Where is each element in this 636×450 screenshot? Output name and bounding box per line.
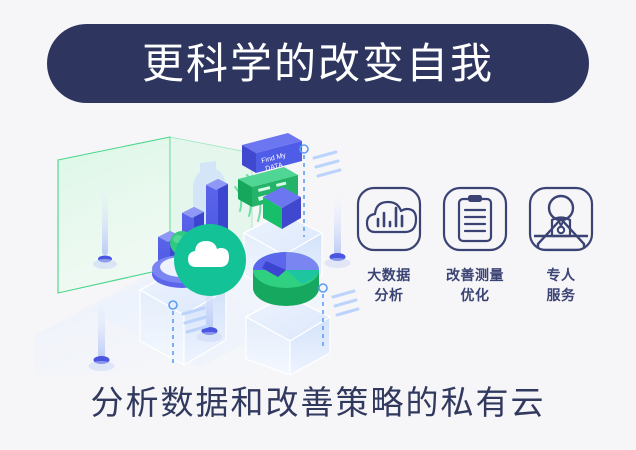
feature-item-measurement-optimization[interactable]: 改善测量 优化: [438, 186, 512, 306]
hero-illustration: Find My DATA: [30, 125, 360, 375]
feature-list: 大数据 分析 改善测量 优化: [352, 186, 598, 336]
page-title: 更科学的改变自我: [142, 43, 494, 85]
feature-label-dedicated-service: 专人 服务: [547, 265, 576, 306]
pie-chart-3d: [253, 252, 319, 306]
feature-label-big-data-analysis: 大数据 分析: [367, 265, 411, 306]
motion-lines-right-top: [314, 152, 340, 176]
cloud-bar-chart-icon: [356, 186, 422, 252]
feature-label-line1: 专人: [547, 267, 576, 283]
footer-headline: 分析数据和改善策略的私有云: [0, 385, 636, 421]
feature-label-line1: 改善测量: [446, 267, 504, 283]
feature-label-line2: 服务: [547, 285, 576, 305]
gradient-pin-center-right: [325, 195, 351, 268]
feature-item-dedicated-service[interactable]: 专人 服务: [524, 186, 598, 306]
feature-label-line2: 分析: [367, 285, 411, 305]
promo-banner: 更科学的改变自我: [0, 0, 636, 450]
clipboard-icon: [442, 186, 508, 252]
badge-find-my-data: Find My DATA: [242, 133, 302, 173]
feature-item-big-data-analysis[interactable]: 大数据 分析: [352, 186, 426, 306]
feature-label-line2: 优化: [446, 285, 504, 305]
feature-label-measurement-optimization: 改善测量 优化: [446, 265, 504, 306]
support-person-icon: [528, 186, 594, 252]
header-pill: 更科学的改变自我: [47, 24, 589, 103]
feature-label-line1: 大数据: [367, 267, 411, 283]
